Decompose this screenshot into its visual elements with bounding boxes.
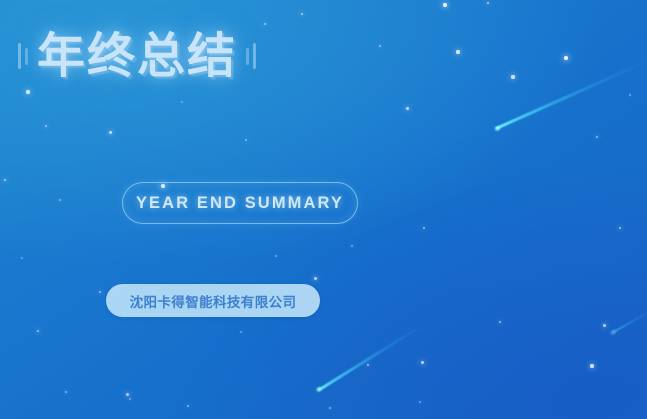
star-icon — [301, 13, 304, 16]
meteor-top-right-icon — [495, 59, 647, 130]
star-icon — [499, 321, 502, 324]
star-icon — [419, 401, 421, 403]
meteor-far-right-faint-icon — [612, 303, 647, 333]
star-icon — [603, 324, 606, 327]
star-icon — [181, 101, 183, 103]
star-icon — [4, 179, 7, 182]
star-icon — [126, 393, 129, 396]
star-icon — [443, 3, 446, 6]
star-icon — [37, 330, 40, 333]
star-icon — [26, 90, 29, 93]
star-icon — [619, 227, 622, 230]
year-end-summary-pill: YEAR END SUMMARY — [122, 182, 358, 224]
star-icon — [21, 257, 23, 259]
star-icon — [351, 245, 353, 247]
star-icon — [245, 139, 247, 141]
star-icon — [275, 255, 277, 257]
star-icon — [629, 94, 631, 96]
company-name-label: 沈阳卡得智能科技有限公司 — [130, 291, 297, 311]
year-end-summary-label: YEAR END SUMMARY — [136, 194, 344, 213]
star-icon — [590, 364, 593, 367]
right-tick-marks-icon — [246, 39, 256, 73]
page-title: 年终总结 — [37, 32, 237, 80]
star-icon — [329, 407, 331, 409]
left-tick-marks-icon — [18, 39, 28, 73]
star-icon — [187, 405, 189, 407]
star-icon — [367, 364, 370, 367]
star-icon — [511, 75, 514, 78]
main-title-row: 年终总结 — [18, 32, 256, 80]
star-icon — [379, 45, 381, 47]
star-icon — [264, 23, 266, 25]
star-icon — [314, 277, 317, 280]
star-icon — [564, 56, 568, 60]
star-icon — [423, 227, 426, 230]
star-icon — [99, 291, 102, 294]
star-icon — [240, 331, 242, 333]
star-icon — [129, 398, 131, 400]
star-icon — [487, 2, 490, 5]
meteor-bottom-center-icon — [317, 322, 425, 391]
star-icon — [421, 361, 424, 364]
star-icon — [65, 391, 67, 393]
star-icon — [45, 125, 48, 128]
year-end-summary-slide: 年终总结 YEAR END SUMMARY 沈阳卡得智能科技有限公司 — [0, 0, 647, 419]
star-icon — [596, 136, 599, 139]
star-icon — [406, 107, 409, 110]
star-icon — [59, 199, 61, 201]
star-icon — [456, 50, 459, 53]
star-icon — [109, 131, 112, 134]
company-name-badge: 沈阳卡得智能科技有限公司 — [106, 284, 320, 317]
